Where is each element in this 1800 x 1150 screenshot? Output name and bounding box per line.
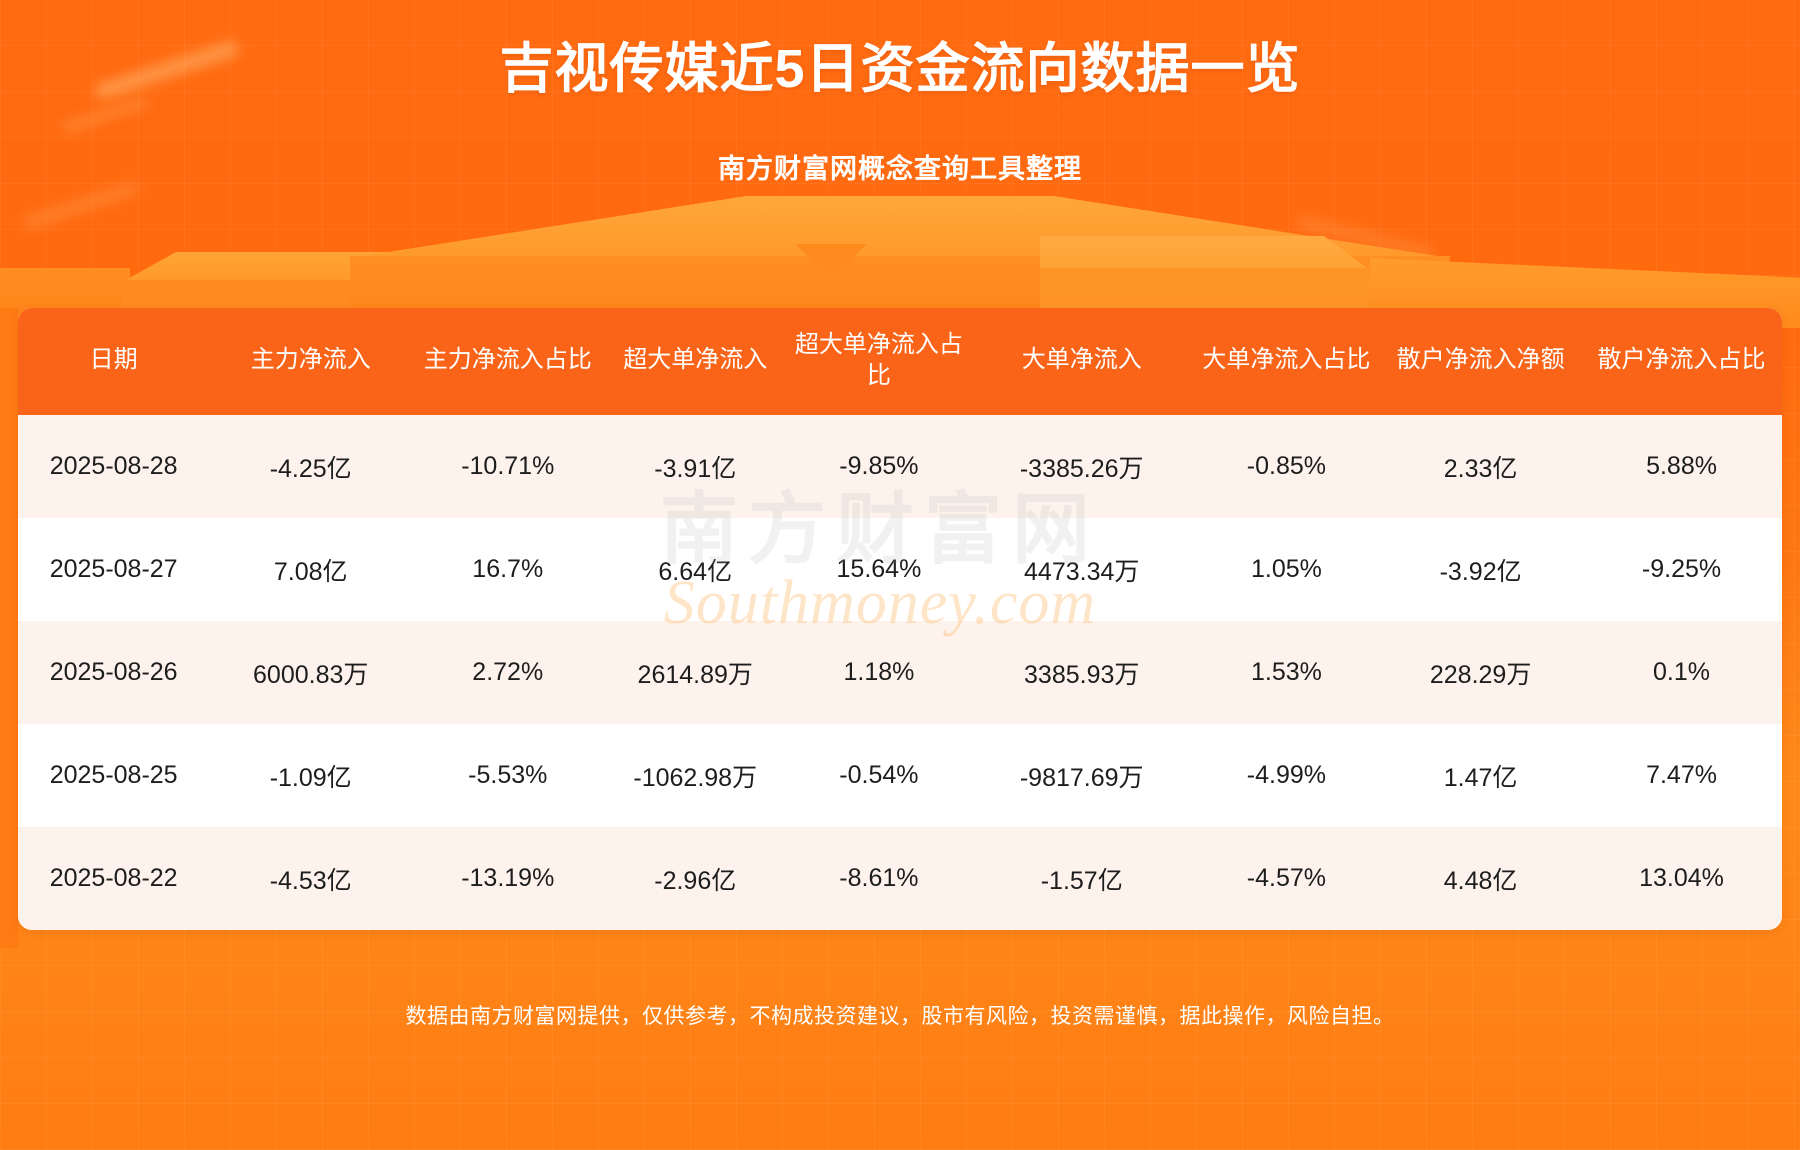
column-header-retail-net-inflow-amount: 散户净流入净额: [1380, 308, 1581, 415]
cell-xl-pct: -8.61%: [787, 827, 971, 930]
cell-lg-pct: -4.57%: [1193, 827, 1380, 930]
cell-lg-pct: -0.85%: [1193, 415, 1380, 518]
podium-shape: [350, 196, 1450, 258]
cell-xl-net: 6.64亿: [603, 518, 787, 621]
disclaimer-text: 数据由南方财富网提供，仅供参考，不构成投资建议，股市有风险，投资需谨慎，据此操作…: [0, 1000, 1800, 1030]
table-header: 日期 主力净流入 主力净流入占比 超大单净流入 超大单净流入占比 大单净流入 大…: [18, 308, 1782, 415]
fund-flow-table: 日期 主力净流入 主力净流入占比 超大单净流入 超大单净流入占比 大单净流入 大…: [18, 308, 1782, 930]
cell-xl-net: -2.96亿: [603, 827, 787, 930]
podium-shape: [795, 244, 867, 278]
cell-main-net: 6000.83万: [209, 621, 412, 724]
cell-main-net: 7.08亿: [209, 518, 412, 621]
cell-main-pct: 16.7%: [412, 518, 603, 621]
cell-xl-pct: -0.54%: [787, 724, 971, 827]
cell-retail-pct: 0.1%: [1581, 621, 1782, 724]
table-body: 2025-08-28 -4.25亿 -10.71% -3.91亿 -9.85% …: [18, 415, 1782, 930]
column-header-extra-large-order-net-inflow: 超大单净流入: [603, 308, 787, 415]
poster-page: 吉视传媒近5日资金流向数据一览 南方财富网概念查询工具整理 日期 主力净流入 主…: [0, 0, 1800, 1150]
cell-main-net: -4.25亿: [209, 415, 412, 518]
decorative-light-streak: [1380, 256, 1479, 289]
column-header-main-net-inflow: 主力净流入: [209, 308, 412, 415]
table-row: 2025-08-25 -1.09亿 -5.53% -1062.98万 -0.54…: [18, 724, 1782, 827]
column-header-retail-net-inflow-ratio: 散户净流入占比: [1581, 308, 1782, 415]
table-row: 2025-08-27 7.08亿 16.7% 6.64亿 15.64% 4473…: [18, 518, 1782, 621]
cell-retail-pct: 5.88%: [1581, 415, 1782, 518]
cell-xl-net: 2614.89万: [603, 621, 787, 724]
cell-main-pct: -5.53%: [412, 724, 603, 827]
cell-lg-net: -9817.69万: [971, 724, 1193, 827]
column-header-large-order-net-inflow-ratio: 大单净流入占比: [1193, 308, 1380, 415]
column-header-extra-large-order-net-inflow-ratio: 超大单净流入占比: [787, 308, 971, 415]
page-title: 吉视传媒近5日资金流向数据一览: [0, 38, 1800, 100]
cell-xl-net: -1062.98万: [603, 724, 787, 827]
column-header-main-net-inflow-ratio: 主力净流入占比: [412, 308, 603, 415]
cell-date: 2025-08-28: [18, 415, 209, 518]
cell-main-net: -1.09亿: [209, 724, 412, 827]
cell-lg-net: 3385.93万: [971, 621, 1193, 724]
cell-lg-net: 4473.34万: [971, 518, 1193, 621]
cell-retail-net: -3.92亿: [1380, 518, 1581, 621]
cell-date: 2025-08-26: [18, 621, 209, 724]
table-row: 2025-08-28 -4.25亿 -10.71% -3.91亿 -9.85% …: [18, 415, 1782, 518]
cell-lg-pct: -4.99%: [1193, 724, 1380, 827]
cell-xl-pct: -9.85%: [787, 415, 971, 518]
cell-lg-net: -1.57亿: [971, 827, 1193, 930]
table-row: 2025-08-26 6000.83万 2.72% 2614.89万 1.18%…: [18, 621, 1782, 724]
cell-xl-pct: 15.64%: [787, 518, 971, 621]
decorative-light-streak: [21, 182, 139, 230]
cell-lg-pct: 1.53%: [1193, 621, 1380, 724]
cell-main-pct: -13.19%: [412, 827, 603, 930]
decorative-light-streak: [61, 96, 150, 133]
fund-flow-table-card: 日期 主力净流入 主力净流入占比 超大单净流入 超大单净流入占比 大单净流入 大…: [18, 308, 1782, 930]
table-row: 2025-08-22 -4.53亿 -13.19% -2.96亿 -8.61% …: [18, 827, 1782, 930]
cell-retail-pct: 7.47%: [1581, 724, 1782, 827]
cell-date: 2025-08-22: [18, 827, 209, 930]
cell-lg-net: -3385.26万: [971, 415, 1193, 518]
cell-retail-net: 228.29万: [1380, 621, 1581, 724]
cell-retail-pct: 13.04%: [1581, 827, 1782, 930]
podium-shape: [520, 252, 580, 276]
decorative-light-streak: [1296, 215, 1435, 261]
cell-retail-net: 2.33亿: [1380, 415, 1581, 518]
cell-main-pct: 2.72%: [412, 621, 603, 724]
cell-retail-net: 1.47亿: [1380, 724, 1581, 827]
podium-shape: [122, 252, 422, 282]
page-subtitle: 南方财富网概念查询工具整理: [0, 147, 1800, 186]
cell-xl-pct: 1.18%: [787, 621, 971, 724]
cell-main-net: -4.53亿: [209, 827, 412, 930]
cell-retail-pct: -9.25%: [1581, 518, 1782, 621]
cell-retail-net: 4.48亿: [1380, 827, 1581, 930]
cell-main-pct: -10.71%: [412, 415, 603, 518]
cell-lg-pct: 1.05%: [1193, 518, 1380, 621]
cell-date: 2025-08-25: [18, 724, 209, 827]
table-header-row: 日期 主力净流入 主力净流入占比 超大单净流入 超大单净流入占比 大单净流入 大…: [18, 308, 1782, 415]
left-edge-strip: [0, 308, 18, 948]
column-header-date: 日期: [18, 308, 209, 415]
cell-date: 2025-08-27: [18, 518, 209, 621]
podium-shape: [1040, 236, 1370, 270]
cell-xl-net: -3.91亿: [603, 415, 787, 518]
column-header-large-order-net-inflow: 大单净流入: [971, 308, 1193, 415]
